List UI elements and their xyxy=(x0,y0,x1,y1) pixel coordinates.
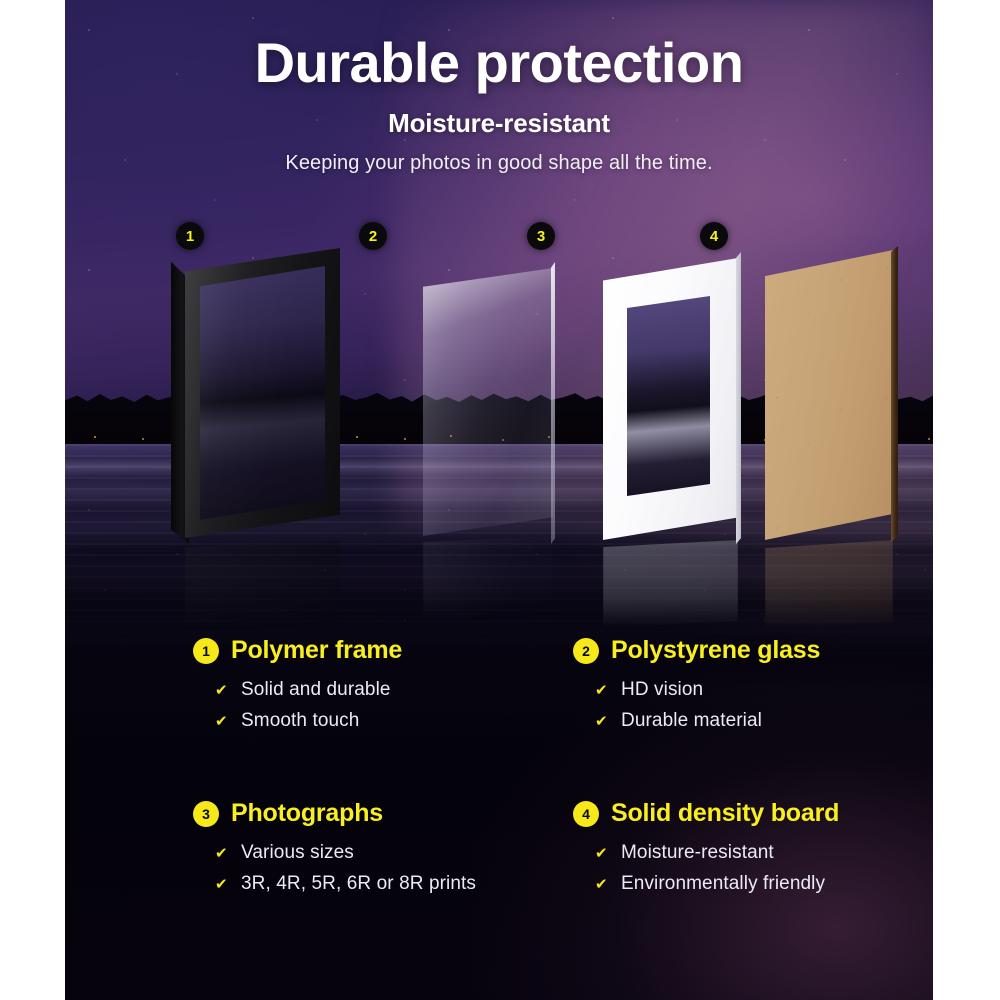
feature-column-right: 2 Polystyrene glass ✔ HD vision ✔ Durabl… xyxy=(573,636,933,904)
mat-board-side-edge xyxy=(736,252,741,544)
feature-column-left: 1 Polymer frame ✔ Solid and durable ✔ Sm… xyxy=(193,636,583,904)
white-mat-board-part xyxy=(603,258,738,540)
feature-block-polystyrene-glass: 2 Polystyrene glass ✔ HD vision ✔ Durabl… xyxy=(573,636,933,799)
list-item: ✔ Smooth touch xyxy=(215,710,583,732)
list-item-label: Moisture-resistant xyxy=(621,842,774,864)
product-infographic: Durable protection Moisture-resistant Ke… xyxy=(0,0,1000,1000)
list-item-label: Various sizes xyxy=(241,842,354,864)
glass-side-edge xyxy=(551,262,555,544)
check-icon: ✔ xyxy=(215,877,228,892)
feature-bullets: ✔ HD vision ✔ Durable material xyxy=(573,679,933,732)
list-item: ✔ Environmentally friendly xyxy=(595,873,933,895)
check-icon: ✔ xyxy=(595,714,608,729)
mat-board-window-cutout xyxy=(627,296,710,496)
part-badge-4: 4 xyxy=(700,222,728,250)
feature-block-polymer-frame: 1 Polymer frame ✔ Solid and durable ✔ Sm… xyxy=(193,636,583,799)
feature-title: Photographs xyxy=(231,799,383,828)
list-item-label: HD vision xyxy=(621,679,703,701)
check-icon: ✔ xyxy=(215,714,228,729)
feature-badge-4: 4 xyxy=(573,801,599,827)
feature-badge-3: 3 xyxy=(193,801,219,827)
feature-title: Polymer frame xyxy=(231,636,402,665)
glass-shine-highlight xyxy=(423,268,553,536)
list-item: ✔ Various sizes xyxy=(215,842,583,864)
density-board-side-edge xyxy=(891,246,898,542)
list-item: ✔ Moisture-resistant xyxy=(595,842,933,864)
check-icon: ✔ xyxy=(595,877,608,892)
board-reflection xyxy=(765,540,893,630)
feature-title: Polystyrene glass xyxy=(611,636,820,665)
frame-reflection xyxy=(185,540,340,632)
list-item-label: Solid and durable xyxy=(241,679,391,701)
list-item-label: Smooth touch xyxy=(241,710,359,732)
part-badge-3: 3 xyxy=(527,222,555,250)
exploded-parts-diagram: 1 2 3 4 xyxy=(65,0,933,620)
list-item-label: Durable material xyxy=(621,710,762,732)
feature-block-solid-density-board: 4 Solid density board ✔ Moisture-resista… xyxy=(573,799,933,895)
feature-bullets: ✔ Moisture-resistant ✔ Environmentally f… xyxy=(573,842,933,895)
feature-heading: 3 Photographs xyxy=(193,799,583,828)
feature-badge-2: 2 xyxy=(573,638,599,664)
list-item: ✔ Solid and durable xyxy=(215,679,583,701)
feature-heading: 4 Solid density board xyxy=(573,799,933,828)
check-icon: ✔ xyxy=(215,683,228,698)
check-icon: ✔ xyxy=(215,846,228,861)
feature-heading: 2 Polystyrene glass xyxy=(573,636,933,665)
mat-reflection xyxy=(603,540,738,628)
feature-badge-1: 1 xyxy=(193,638,219,664)
feature-heading: 1 Polymer frame xyxy=(193,636,583,665)
part-badge-2: 2 xyxy=(359,222,387,250)
check-icon: ✔ xyxy=(595,846,608,861)
feature-block-photographs: 3 Photographs ✔ Various sizes ✔ 3R, 4R, … xyxy=(193,799,583,895)
part-badge-1: 1 xyxy=(176,222,204,250)
list-item-label: 3R, 4R, 5R, 6R or 8R prints xyxy=(241,873,476,895)
feature-bullets: ✔ Various sizes ✔ 3R, 4R, 5R, 6R or 8R p… xyxy=(193,842,583,895)
feature-bullets: ✔ Solid and durable ✔ Smooth touch xyxy=(193,679,583,732)
glass-reflection xyxy=(423,536,553,622)
list-item-label: Environmentally friendly xyxy=(621,873,825,895)
artwork-panel: Durable protection Moisture-resistant Ke… xyxy=(65,0,933,1000)
check-icon: ✔ xyxy=(595,683,608,698)
list-item: ✔ Durable material xyxy=(595,710,933,732)
polymer-frame-part xyxy=(185,248,340,538)
solid-density-board-part xyxy=(765,250,893,540)
feature-title: Solid density board xyxy=(611,799,839,828)
polymer-frame-highlight xyxy=(185,248,340,538)
list-item: ✔ 3R, 4R, 5R, 6R or 8R prints xyxy=(215,873,583,895)
polystyrene-glass-part xyxy=(423,268,553,536)
list-item: ✔ HD vision xyxy=(595,679,933,701)
